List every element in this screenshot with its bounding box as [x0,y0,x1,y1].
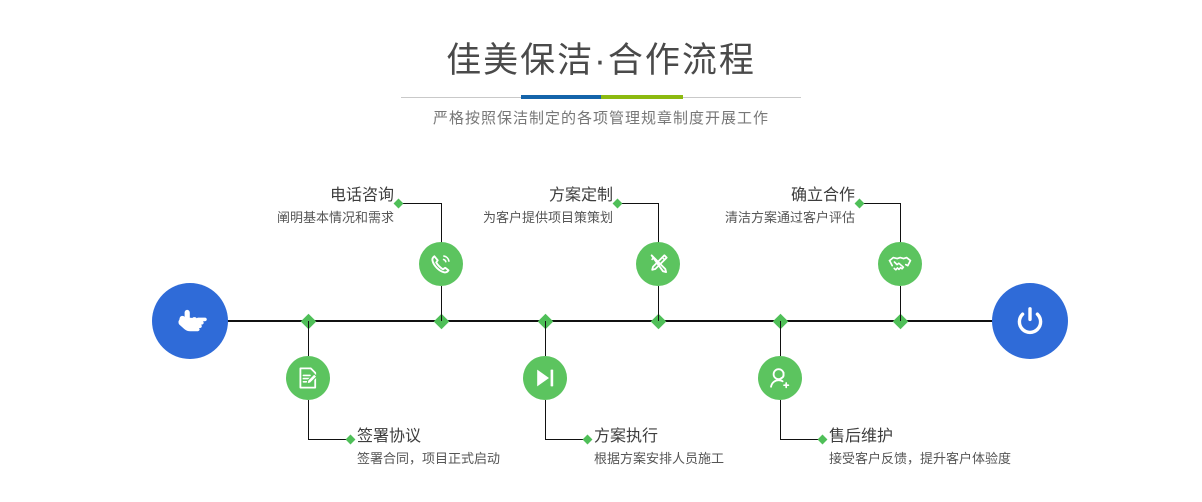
label-stub-5 [859,203,901,204]
step-desc-3: 为客户提供项目策策划 [397,209,613,227]
step-title-4: 方案执行 [594,427,854,447]
headset-support-icon [767,365,793,391]
step-icon-2[interactable] [286,356,330,400]
label-dot-2 [345,434,355,444]
connector-down-4 [545,321,546,356]
step-icon-1[interactable] [419,242,463,286]
pointing-hand-icon [169,300,211,342]
document-sign-icon [295,365,321,391]
step-label-2: 签署协议 签署合同，项目正式启动 [357,427,617,468]
connector-up-5-top [900,203,901,243]
step-title-3: 方案定制 [397,186,613,206]
connector-down-2-bottom [308,400,309,439]
step-icon-6[interactable] [758,356,802,400]
timeline-area: 电话咨询 阐明基本情况和需求 方案定制 为客户提供项目策策划 确立合作 清洁方案… [0,0,1202,502]
connector-up-1 [441,286,442,321]
step-title-5: 确立合作 [639,186,855,206]
step-desc-1: 阐明基本情况和需求 [178,209,394,227]
step-label-3: 方案定制 为客户提供项目策策划 [397,186,613,227]
step-title-2: 签署协议 [357,427,617,447]
step-title-1: 电话咨询 [178,186,394,206]
step-desc-2: 签署合同，项目正式启动 [357,450,617,468]
step-icon-5[interactable] [878,242,922,286]
step-label-1: 电话咨询 阐明基本情况和需求 [178,186,394,227]
step-icon-4[interactable] [523,356,567,400]
label-dot-5 [854,198,864,208]
step-icon-3[interactable] [636,242,680,286]
play-execute-icon [532,365,558,391]
step-label-5: 确立合作 清洁方案通过客户评估 [639,186,855,227]
end-endcap[interactable] [992,283,1068,359]
phone-ringing-icon [428,251,454,277]
timeline-rail [226,320,996,322]
label-dot-3 [612,198,622,208]
step-label-4: 方案执行 根据方案安排人员施工 [594,427,854,468]
connector-up-5 [900,286,901,321]
step-desc-5: 清洁方案通过客户评估 [639,209,855,227]
step-label-6: 售后维护 接受客户反馈，提升客户体验度 [829,427,1109,468]
step-desc-4: 根据方案安排人员施工 [594,450,854,468]
start-endcap[interactable] [152,283,228,359]
connector-down-6 [780,321,781,356]
step-title-6: 售后维护 [829,427,1109,447]
label-stub-2 [308,439,350,440]
power-icon [1009,300,1051,342]
connector-down-2 [308,321,309,356]
connector-up-3 [658,286,659,321]
step-desc-6: 接受客户反馈，提升客户体验度 [829,450,1109,468]
handshake-icon [887,251,913,277]
pencil-ruler-icon [645,251,671,277]
process-flow-infographic: 佳美保洁·合作流程 严格按照保洁制定的各项管理规章制度开展工作 [0,0,1202,502]
